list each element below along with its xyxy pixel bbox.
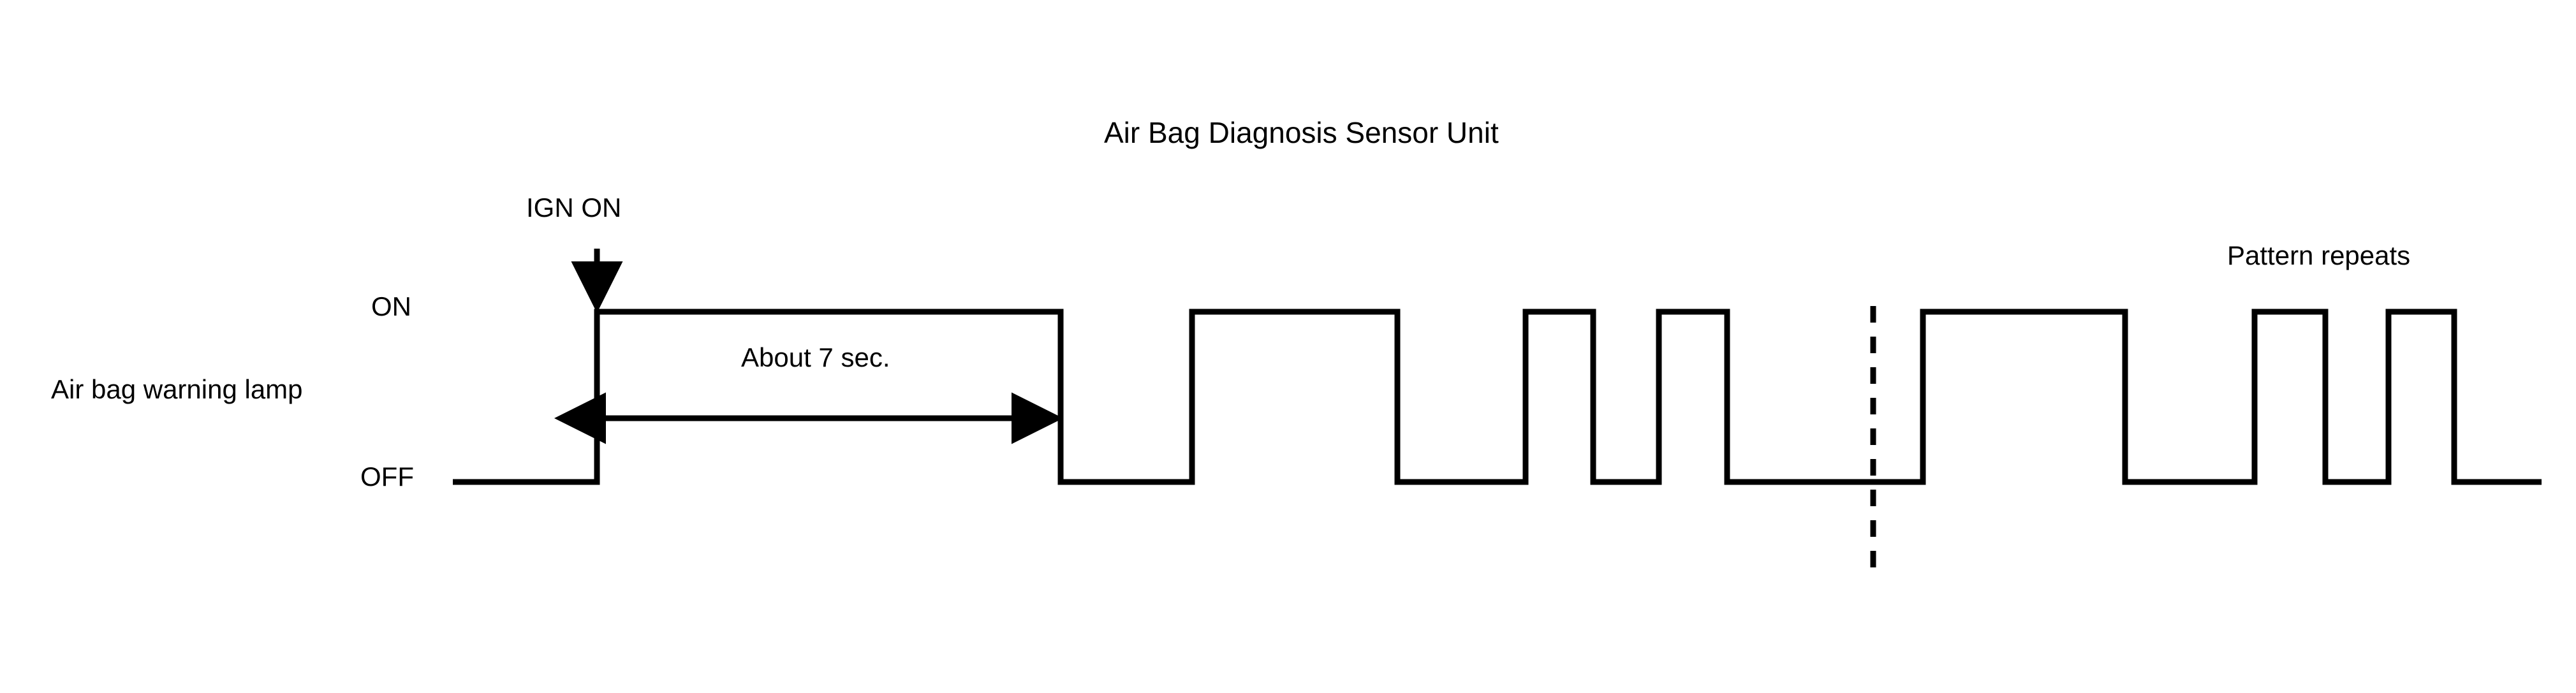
- pattern-repeats-annotation-label: Pattern repeats: [2227, 242, 2410, 269]
- waveform-trace: [453, 312, 2542, 482]
- duration-annotation-label: About 7 sec.: [741, 344, 890, 371]
- ign-on-annotation-label: IGN ON: [526, 194, 621, 221]
- y-axis-label-on: ON: [371, 293, 411, 320]
- y-axis-label-off: OFF: [360, 463, 414, 490]
- waveform-graphic: [0, 0, 2576, 693]
- page-title: Air Bag Diagnosis Sensor Unit: [1104, 118, 1499, 147]
- timing-diagram-canvas: Air Bag Diagnosis Sensor Unit IGN ON Pat…: [0, 0, 2576, 693]
- signal-name-label: Air bag warning lamp: [51, 376, 303, 403]
